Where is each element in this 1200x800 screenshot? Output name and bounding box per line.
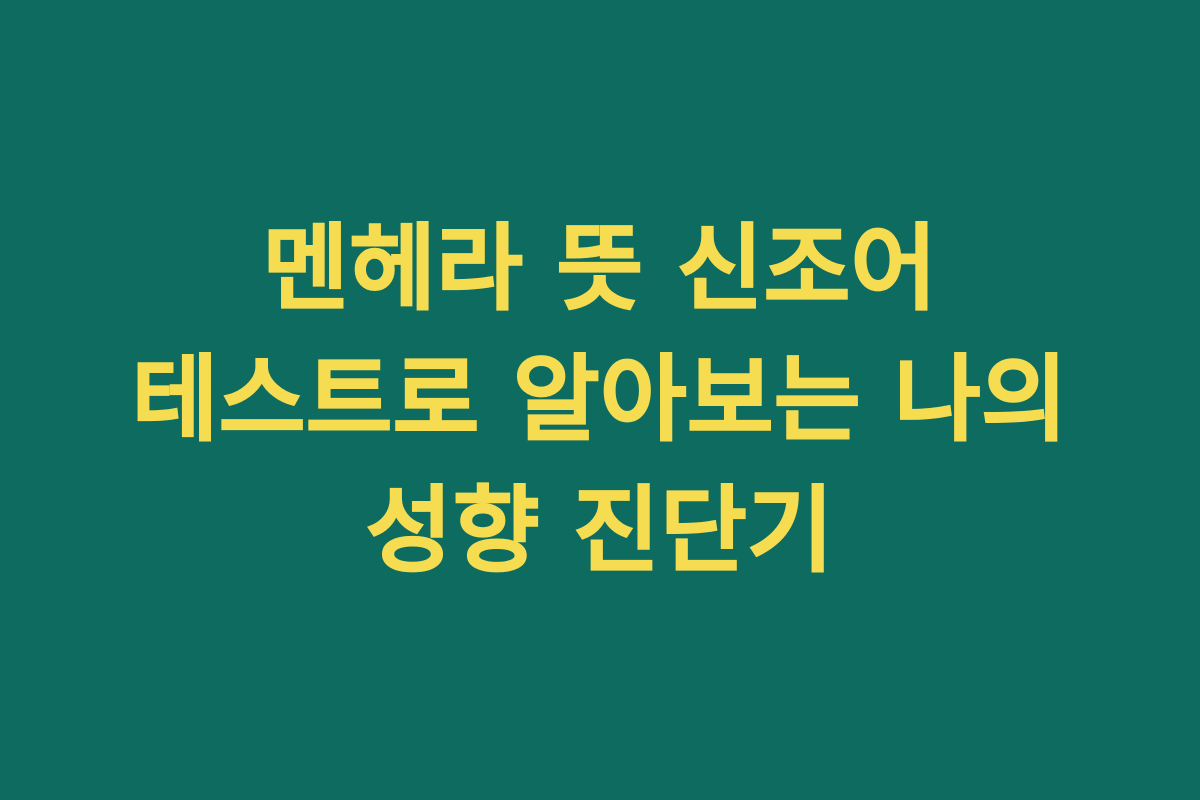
title-block: 멘헤라 뜻 신조어 테스트로 알아보는 나의 성향 진단기 [120,204,1080,597]
banner-title: 멘헤라 뜻 신조어 테스트로 알아보는 나의 성향 진단기 [128,204,1072,597]
banner-canvas: 멘헤라 뜻 신조어 테스트로 알아보는 나의 성향 진단기 [0,0,1200,800]
